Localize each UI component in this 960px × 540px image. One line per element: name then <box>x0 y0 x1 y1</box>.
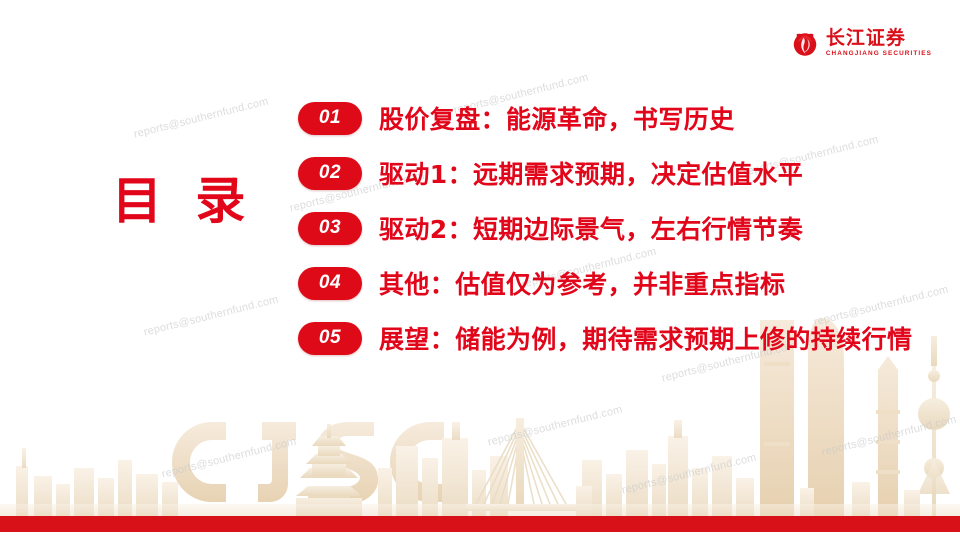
toc-item-05[interactable]: 05 展望：储能为例，期待需求预期上修的持续行情 <box>298 316 912 360</box>
brand-logo: 长江证券 CHANGJIANG SECURITIES <box>790 28 932 58</box>
toc-item-03[interactable]: 03 驱动2：短期边际景气，左右行情节奏 <box>298 206 912 250</box>
table-of-contents: 01 股价复盘：能源革命，书写历史 02 驱动1：远期需求预期，决定估值水平 0… <box>298 96 912 360</box>
changjiang-dragon-emblem-icon <box>790 28 820 58</box>
toc-number-label: 03 <box>319 217 341 239</box>
toc-number-badge: 01 <box>298 102 362 135</box>
toc-item-label: 展望：储能为例，期待需求预期上修的持续行情 <box>379 320 912 356</box>
toc-number-badge: 03 <box>298 212 362 245</box>
toc-item-04[interactable]: 04 其他：估值仅为参考，并非重点指标 <box>298 261 912 305</box>
presentation-slide: reports@southernfund.com reports@souther… <box>0 0 960 540</box>
toc-number-label: 05 <box>319 327 341 349</box>
toc-item-label: 驱动1：远期需求预期，决定估值水平 <box>379 155 803 191</box>
toc-item-label: 其他：估值仅为参考，并非重点指标 <box>379 265 785 301</box>
toc-item-01[interactable]: 01 股价复盘：能源革命，书写历史 <box>298 96 912 140</box>
page-title: 目 录 <box>112 176 253 226</box>
toc-item-label: 股价复盘：能源革命，书写历史 <box>379 100 735 136</box>
toc-number-label: 01 <box>319 107 341 129</box>
brand-name-cn: 长江证券 <box>826 29 932 48</box>
watermark-text: reports@southernfund.com <box>133 95 270 140</box>
toc-item-02[interactable]: 02 驱动1：远期需求预期，决定估值水平 <box>298 151 912 195</box>
toc-number-badge: 02 <box>298 157 362 190</box>
toc-number-label: 04 <box>319 272 341 294</box>
toc-number-badge: 05 <box>298 322 362 355</box>
toc-number-label: 02 <box>319 162 341 184</box>
toc-item-label: 驱动2：短期边际景气，左右行情节奏 <box>379 210 803 246</box>
bottom-accent-bar <box>0 516 960 532</box>
toc-number-badge: 04 <box>298 267 362 300</box>
brand-name-en: CHANGJIANG SECURITIES <box>826 51 932 57</box>
